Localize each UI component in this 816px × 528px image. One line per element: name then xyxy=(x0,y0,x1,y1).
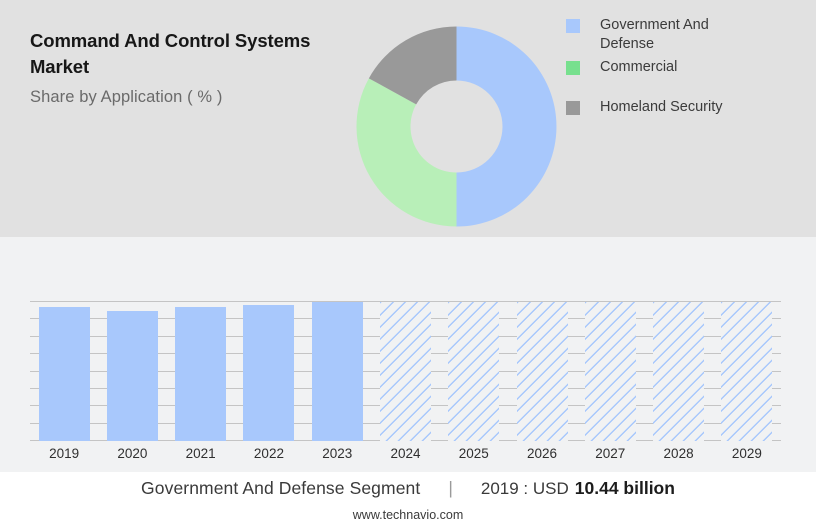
bar-2023 xyxy=(312,302,363,441)
footer-separator: | xyxy=(448,478,453,499)
x-axis-label-2027: 2027 xyxy=(580,446,640,461)
x-axis-label-2022: 2022 xyxy=(239,446,299,461)
donut-slice-commercial xyxy=(357,78,457,226)
legend-item-government-and-defense[interactable]: Government And Defense xyxy=(566,16,750,54)
legend-swatch-homeland-security xyxy=(566,101,580,115)
bar-2026 xyxy=(517,302,568,441)
footer-year-label: 2019 : USD xyxy=(481,479,569,499)
legend-item-homeland-security[interactable]: Homeland Security xyxy=(566,98,723,117)
x-axis-label-2020: 2020 xyxy=(102,446,162,461)
donut-chart xyxy=(356,26,557,227)
title-block: Command And Control Systems Market Share… xyxy=(30,28,360,109)
donut-slice-government-and-defense xyxy=(457,27,557,227)
footer-band: Government And Defense Segment | 2019 : … xyxy=(0,472,816,528)
legend-item-commercial[interactable]: Commercial xyxy=(566,58,677,77)
bar-2027 xyxy=(585,302,636,441)
footer-url: www.technavio.com xyxy=(0,508,816,522)
bar-2028 xyxy=(653,302,704,441)
x-axis-label-2028: 2028 xyxy=(649,446,709,461)
x-axis-label-2023: 2023 xyxy=(307,446,367,461)
x-axis-label-2025: 2025 xyxy=(444,446,504,461)
x-axis-label-2026: 2026 xyxy=(512,446,572,461)
legend-swatch-commercial xyxy=(566,61,580,75)
x-axis-label-2024: 2024 xyxy=(376,446,436,461)
x-axis-label-2029: 2029 xyxy=(717,446,777,461)
bar-2029 xyxy=(721,302,772,441)
bar-2025 xyxy=(448,302,499,441)
infographic-root: Command And Control Systems Market Share… xyxy=(0,0,816,528)
footer-segment-label: Government And Defense Segment xyxy=(141,478,420,499)
bar-2022 xyxy=(243,305,294,441)
legend-label-government-and-defense: Government And Defense xyxy=(600,16,750,54)
page-subtitle: Share by Application ( % ) xyxy=(30,85,360,109)
bar-2021 xyxy=(175,307,226,441)
legend-swatch-government-and-defense xyxy=(566,19,580,33)
page-title: Command And Control Systems Market xyxy=(30,28,360,80)
legend-label-commercial: Commercial xyxy=(600,58,677,77)
legend-label-homeland-security: Homeland Security xyxy=(600,98,723,117)
bar-2019 xyxy=(39,307,90,441)
x-axis-label-2019: 2019 xyxy=(34,446,94,461)
footer-value: 10.44 billion xyxy=(575,478,675,499)
x-axis-label-2021: 2021 xyxy=(171,446,231,461)
bar-chart-plot xyxy=(30,301,781,441)
footer-summary: Government And Defense Segment | 2019 : … xyxy=(0,478,816,499)
bar-2024 xyxy=(380,302,431,441)
bar-2020 xyxy=(107,311,158,441)
